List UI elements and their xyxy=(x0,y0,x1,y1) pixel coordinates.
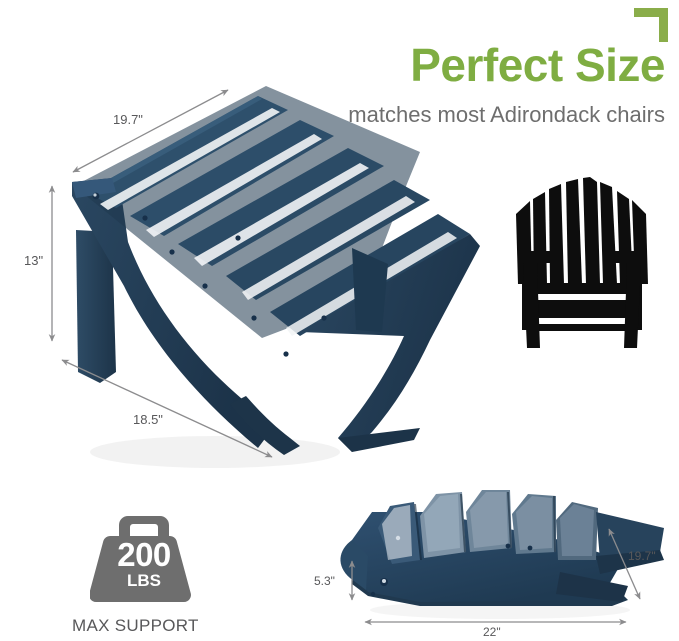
dim-label-folded-width: 19.7" xyxy=(628,549,656,563)
dim-arrow-folded-width xyxy=(609,529,640,599)
dim-label-folded-height: 5.3" xyxy=(314,574,335,588)
dim-arrow-depth-bottom xyxy=(62,360,272,457)
dim-label-height-side: 13" xyxy=(24,253,43,268)
folded-ottoman-body xyxy=(340,490,664,606)
folded-dimension-arrows xyxy=(352,529,640,622)
weight-handle-shape xyxy=(119,516,169,537)
page-subtitle: matches most Adirondack chairs xyxy=(348,102,665,128)
dim-label-folded-length: 22" xyxy=(483,625,501,639)
ottoman-body xyxy=(72,86,480,455)
infographic-page: Perfect Size matches most Adirondack cha… xyxy=(0,0,679,641)
weight-unit: LBS xyxy=(90,572,198,589)
corner-bracket-icon xyxy=(634,8,668,42)
main-dimension-arrows xyxy=(52,90,272,457)
corner-bracket-vertical-bar xyxy=(659,8,668,42)
max-support-block: 200 LBS MAX SUPPORT xyxy=(72,512,262,637)
dim-arrow-width-top xyxy=(73,90,228,172)
page-title: Perfect Size xyxy=(410,40,665,90)
chair-silhouette-shapes xyxy=(516,177,648,348)
weight-value: 200 xyxy=(90,538,198,571)
dim-label-width-top: 19.7" xyxy=(113,112,143,127)
dim-label-depth-bottom: 18.5" xyxy=(133,412,163,427)
max-support-caption: MAX SUPPORT xyxy=(72,616,262,636)
